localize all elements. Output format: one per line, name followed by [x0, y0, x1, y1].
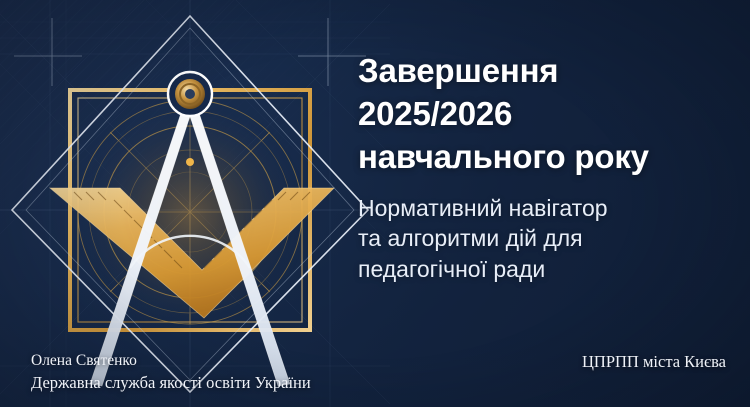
presenter-organization: Державна служба якості освіти України	[31, 371, 311, 394]
slide-text-block: Завершення 2025/2026 навчального року Но…	[358, 50, 738, 285]
subtitle-line-1: Нормативний навігатор	[358, 195, 608, 221]
slide-title: Завершення 2025/2026 навчального року	[358, 50, 738, 179]
subtitle-line-3: педагогічної ради	[358, 256, 545, 282]
slide-subtitle: Нормативний навігатор та алгоритми дій д…	[358, 193, 738, 285]
title-line-2: 2025/2026	[358, 95, 512, 132]
host-organization: ЦПРПП міста Києва	[582, 352, 726, 372]
presenter-credit: Олена Святенко Державна служба якості ос…	[31, 350, 311, 394]
presenter-name: Олена Святенко	[31, 350, 311, 371]
title-line-1: Завершення	[358, 52, 558, 89]
presentation-slide: Завершення 2025/2026 навчального року Но…	[0, 0, 750, 407]
title-line-3: навчального року	[358, 138, 649, 175]
subtitle-line-2: та алгоритми дій для	[358, 225, 583, 251]
